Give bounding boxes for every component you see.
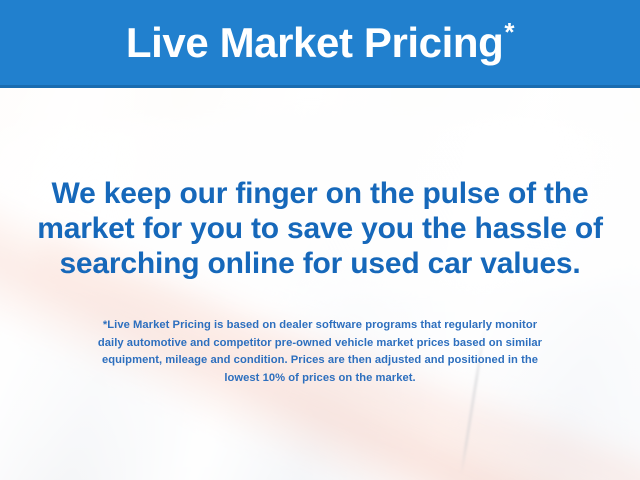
header-banner: Live Market Pricing* (0, 0, 640, 88)
disclaimer-line-4: lowest 10% of prices on the market. (0, 370, 640, 388)
headline-line-2: market for you to save you the hassle of (0, 211, 640, 246)
headline-line-3: searching online for used car values. (0, 246, 640, 281)
disclaimer-line-2: daily automotive and competitor pre-owne… (0, 335, 640, 353)
page-title-text: Live Market Pricing (126, 19, 504, 66)
disclaimer-line-1: *Live Market Pricing is based on dealer … (0, 317, 640, 335)
headline: We keep our finger on the pulse of the m… (0, 176, 640, 281)
disclaimer: *Live Market Pricing is based on dealer … (0, 317, 640, 387)
footnote-marker: * (504, 17, 514, 47)
page-title: Live Market Pricing* (126, 19, 514, 66)
disclaimer-line-3: equipment, mileage and condition. Prices… (0, 352, 640, 370)
headline-line-1: We keep our finger on the pulse of the (0, 176, 640, 211)
live-market-pricing-slide: Live Market Pricing* We keep our finger … (0, 0, 640, 480)
